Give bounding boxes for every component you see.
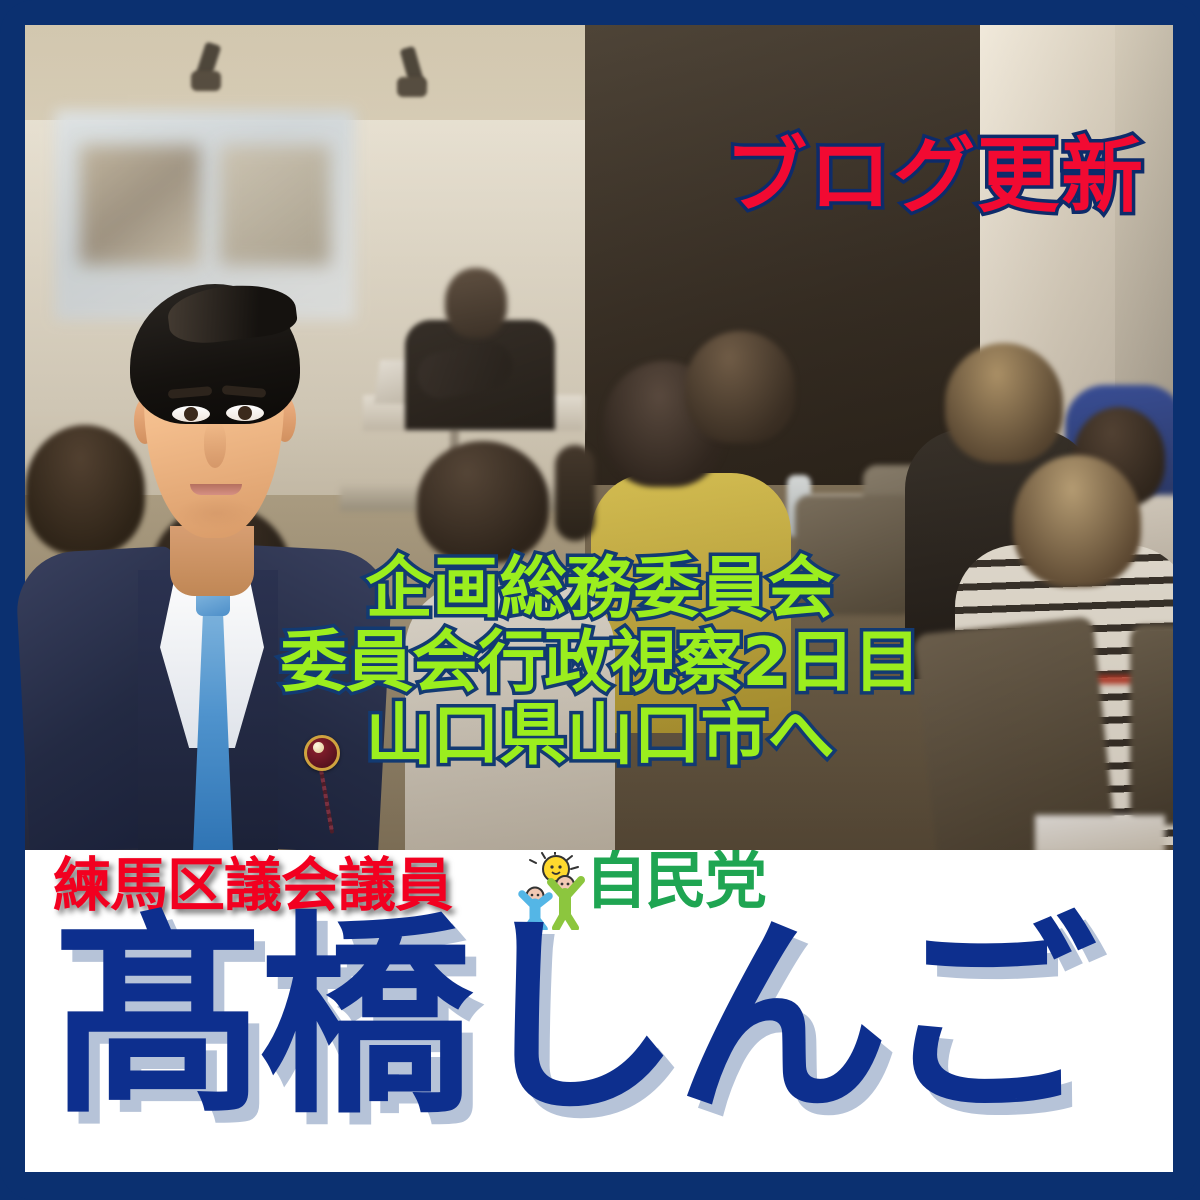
- candidate-name: 髙橋しんご: [51, 912, 1161, 1126]
- headline-line-3: 山口県山口市へ: [255, 699, 945, 773]
- attendee-head-b: [555, 445, 595, 541]
- attendee-head-g: [1013, 455, 1141, 587]
- blog-update-badge: ブログ更新: [700, 136, 1170, 218]
- nose: [204, 422, 226, 468]
- attendee-head-a: [417, 441, 549, 563]
- headline-line-2: 委員会行政視察2日目: [255, 626, 945, 700]
- chair-4: [1130, 625, 1173, 825]
- mouth: [190, 484, 242, 495]
- attendee-head-e: [945, 343, 1063, 463]
- attendee-head-d: [685, 331, 795, 443]
- ceiling-lamp-2-shade: [397, 77, 427, 97]
- pupil-right: [238, 406, 252, 420]
- pupil-left: [184, 407, 198, 421]
- headline-block: 企画総務委員会 委員会行政視察2日目 山口県山口市へ: [255, 552, 945, 773]
- headline-line-1: 企画総務委員会: [255, 552, 945, 626]
- ceiling-lamp-1-shade: [191, 71, 221, 91]
- paper-sheet: [1035, 815, 1165, 850]
- poster-frame: ブログ更新 企画総務委員会 委員会行政視察2日目 山口県山口市へ 練馬区議会議員: [0, 0, 1200, 1200]
- presenter-head: [445, 268, 507, 338]
- footer-panel: 練馬区議会議員: [25, 850, 1173, 1172]
- chin: [176, 496, 256, 530]
